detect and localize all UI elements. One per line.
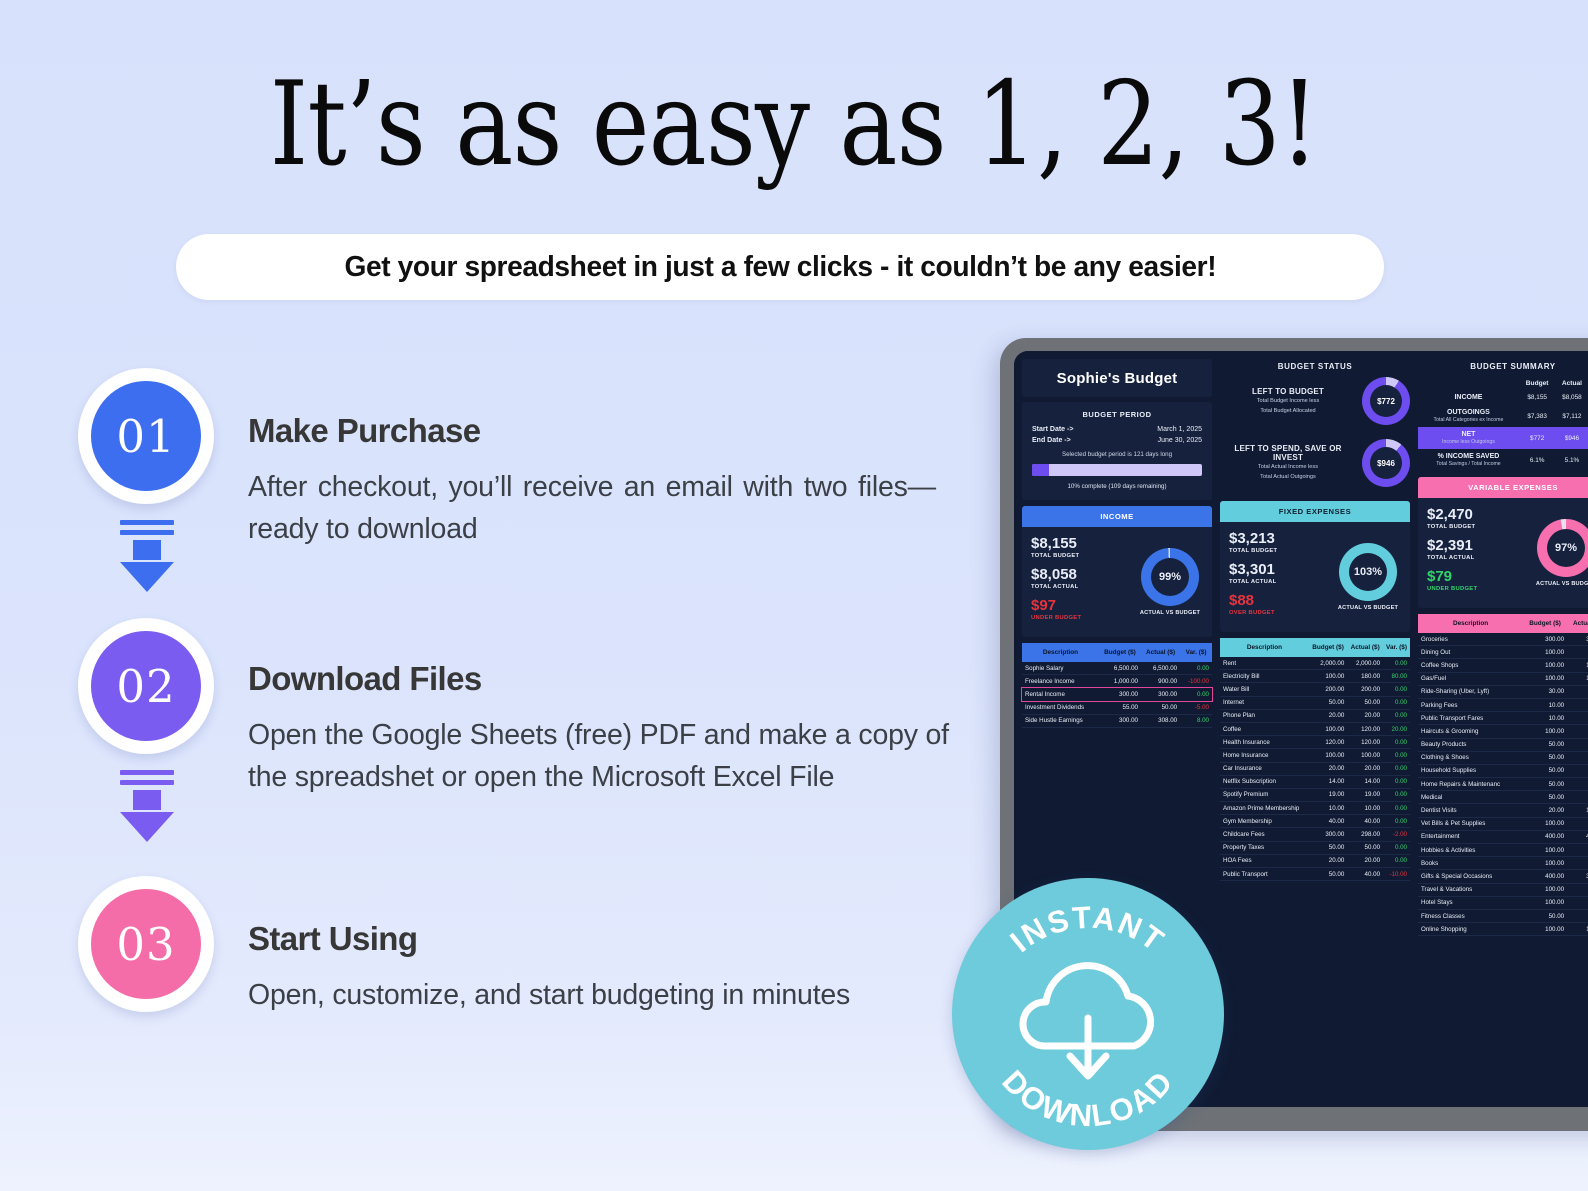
table-row[interactable]: HOA Fees20.0020.000.00 (1220, 854, 1410, 867)
fixed-total-budget-cap: TOTAL BUDGET (1229, 548, 1335, 554)
cell-budget: 20.00 (1309, 762, 1347, 775)
summary-label: INCOME (1418, 390, 1519, 405)
cell-description: Home Insurance (1220, 749, 1309, 762)
spreadsheet-column-income: Sophie's Budget BUDGET PERIOD Start Date… (1022, 359, 1212, 936)
fixed-col-actual: Actual ($) (1347, 638, 1383, 657)
cell-variance: 0.00 (1383, 683, 1410, 696)
left-to-spend-value: $946 (1370, 447, 1402, 479)
cell-description: Internet (1220, 696, 1309, 709)
variable-expenses-table: Description Budget ($) Actual ($) Grocer… (1418, 614, 1588, 936)
cell-budget: 10.00 (1523, 712, 1567, 725)
table-row[interactable]: Fitness Classes50.0050.00 (1418, 909, 1588, 922)
cell-actual: 356.00 (1567, 633, 1588, 646)
cloud-download-icon (1023, 966, 1151, 1076)
cell-description: Electricity Bill (1220, 670, 1309, 683)
cell-variance: 0.00 (1383, 775, 1410, 788)
spreadsheet-column-fixed: BUDGET STATUS LEFT TO BUDGET Total Budge… (1220, 359, 1410, 936)
start-date-label: Start Date -> (1032, 426, 1073, 433)
fixed-variance-cap: OVER BUDGET (1229, 610, 1335, 616)
table-row[interactable]: Medical50.0078.00 (1418, 791, 1588, 804)
cell-budget: 6,500.00 (1099, 662, 1141, 675)
cell-budget: 300.00 (1309, 828, 1347, 841)
step-2-title: Download Files (248, 660, 948, 698)
cell-actual: 180.00 (1347, 670, 1383, 683)
left-to-spend-sub2: Total Actual Outgoings (1220, 474, 1356, 482)
cell-actual: 50.00 (1567, 909, 1588, 922)
variable-total-budget: $2,470 (1427, 506, 1533, 523)
summary-budget: $772 (1519, 427, 1556, 449)
cell-description: Water Bill (1220, 683, 1309, 696)
cell-actual: 9.00 (1567, 698, 1588, 711)
left-to-budget-sub1: Total Budget Income less (1220, 398, 1356, 406)
cell-description: Travel & Vacations (1418, 883, 1523, 896)
variable-total-actual-cap: TOTAL ACTUAL (1427, 555, 1533, 561)
table-row[interactable]: Parking Fees10.009.00 (1418, 698, 1588, 711)
step-2-number: 02 (116, 660, 175, 713)
cell-budget: 50.00 (1523, 791, 1567, 804)
cell-actual: 14.00 (1347, 775, 1383, 788)
income-col-description: Description (1022, 643, 1099, 662)
cell-actual: 34.00 (1567, 685, 1588, 698)
cell-budget: 100.00 (1523, 857, 1567, 870)
spreadsheet-column-variable: BUDGET SUMMARY Budget Actual Var INCOME$… (1418, 359, 1588, 936)
cell-budget: 50.00 (1523, 738, 1567, 751)
table-row[interactable]: Rent2,000.002,000.000.00 (1220, 657, 1410, 670)
fixed-expenses-table: Description Budget ($) Actual ($) Var. (… (1220, 638, 1410, 881)
step-3-badge-wrap: 03 (78, 876, 214, 1012)
cell-budget: 55.00 (1099, 701, 1141, 714)
cell-budget: 100.00 (1523, 817, 1567, 830)
budget-period-panel: BUDGET PERIOD Start Date -> March 1, 202… (1022, 402, 1212, 500)
table-row[interactable]: Coffee100.00120.0020.00 (1220, 722, 1410, 735)
cell-actual: 20.00 (1347, 854, 1383, 867)
step-3-title: Start Using (248, 920, 948, 958)
cell-actual: 89.00 (1567, 738, 1588, 751)
variable-expenses-kpi-card: VARIABLE EXPENSES $2,470 TOTAL BUDGET $2… (1418, 477, 1588, 608)
cell-budget: 14.00 (1309, 775, 1347, 788)
income-table-header: Description Budget ($) Actual ($) Var. (… (1022, 643, 1212, 662)
cell-variance: -2.00 (1383, 828, 1410, 841)
cell-budget: 2,000.00 (1309, 657, 1347, 670)
cell-description: Online Shopping (1418, 923, 1523, 936)
left-to-spend-sub1: Total Actual Income less (1220, 464, 1356, 472)
cell-actual: 100.00 (1347, 749, 1383, 762)
cell-description: Gas/Fuel (1418, 672, 1523, 685)
income-total-actual: $8,058 (1031, 566, 1137, 583)
income-table-body: Sophie Salary6,500.006,500.000.00Freelan… (1022, 662, 1212, 727)
cell-budget: 200.00 (1309, 683, 1347, 696)
cell-variance: 0.00 (1383, 802, 1410, 815)
instant-download-badge: INSTANT DOWNLOAD (952, 878, 1224, 1150)
cell-budget: 50.00 (1309, 868, 1347, 881)
cell-budget: 50.00 (1523, 751, 1567, 764)
cell-budget: 100.00 (1523, 844, 1567, 857)
step-2-badge: 02 (78, 618, 214, 754)
budget-progress-bar (1032, 464, 1202, 476)
start-date-value: March 1, 2025 (1157, 426, 1202, 433)
cell-description: HOA Fees (1220, 854, 1309, 867)
fixed-total-budget: $3,213 (1229, 530, 1335, 547)
summary-row: % INCOME SAVEDTotal Savings / Total Inco… (1418, 449, 1588, 471)
income-kpi-card: INCOME $8,155 TOTAL BUDGET $8,058 TOTAL … (1022, 506, 1212, 637)
cell-actual: 60.00 (1567, 778, 1588, 791)
end-date-value: June 30, 2025 (1158, 437, 1202, 444)
income-variance: $97 (1031, 597, 1137, 614)
income-total-budget-cap: TOTAL BUDGET (1031, 553, 1137, 559)
income-col-actual: Actual ($) (1141, 643, 1180, 662)
cell-budget: 400.00 (1523, 870, 1567, 883)
cell-budget: 100.00 (1523, 646, 1567, 659)
cell-actual: 20.00 (1347, 709, 1383, 722)
table-row[interactable]: Side Hustle Earnings300.00308.008.00 (1022, 714, 1212, 727)
cell-description: Ride-Sharing (Uber, Lyft) (1418, 685, 1523, 698)
cell-description: Netflix Subscription (1220, 775, 1309, 788)
summary-label: NETIncome less Outgoings (1418, 427, 1519, 449)
cell-budget: 300.00 (1523, 633, 1567, 646)
cell-description: Dentist Visits (1418, 804, 1523, 817)
cell-budget: 100.00 (1309, 749, 1347, 762)
table-row[interactable]: Home Insurance100.00100.000.00 (1220, 749, 1410, 762)
cell-budget: 100.00 (1523, 725, 1567, 738)
cell-actual: 103.00 (1567, 659, 1588, 672)
table-row[interactable]: Household Supplies50.0035.00 (1418, 764, 1588, 777)
fixed-variance: $88 (1229, 592, 1335, 609)
fixed-donut-chart: 103% (1339, 543, 1397, 601)
left-to-spend-title: LEFT TO SPEND, SAVE OR INVEST (1220, 444, 1356, 462)
cell-variance: -10.00 (1383, 868, 1410, 881)
summary-row: NETIncome less Outgoings$772$946 (1418, 427, 1588, 449)
cell-budget: 19.00 (1309, 788, 1347, 801)
table-row[interactable]: Haircuts & Grooming100.0019.00 (1418, 725, 1588, 738)
cell-actual: 40.00 (1347, 815, 1383, 828)
step-1-badge: 01 (78, 368, 214, 504)
cell-description: Coffee (1220, 722, 1309, 735)
cell-description: Dining Out (1418, 646, 1523, 659)
table-row[interactable]: Dentist Visits20.00100.00 (1418, 804, 1588, 817)
income-total-budget: $8,155 (1031, 535, 1137, 552)
budget-period-end-row: End Date -> June 30, 2025 (1032, 437, 1202, 444)
income-donut-value: 99% (1151, 558, 1189, 596)
cell-description: Books (1418, 857, 1523, 870)
left-to-budget-value: $772 (1370, 385, 1402, 417)
cell-actual: 40.00 (1567, 751, 1588, 764)
cell-budget: 20.00 (1309, 854, 1347, 867)
budget-status-heading: BUDGET STATUS (1220, 362, 1410, 371)
summary-col-actual: Actual (1555, 377, 1588, 390)
table-row[interactable]: Health Insurance120.00120.000.00 (1220, 736, 1410, 749)
income-donut-cap: ACTUAL VS BUDGET (1140, 610, 1200, 616)
variable-variance: $79 (1427, 568, 1533, 585)
table-row[interactable]: Hobbies & Activities100.0098.00 (1418, 844, 1588, 857)
variable-donut-chart: 97% (1537, 519, 1588, 577)
summary-actual: 5.1% (1555, 449, 1588, 471)
cell-description: Investment Dividends (1022, 701, 1099, 714)
cell-actual: 90.00 (1567, 896, 1588, 909)
table-row[interactable]: Travel & Vacations100.0080.00 (1418, 883, 1588, 896)
cell-budget: 100.00 (1309, 722, 1347, 735)
summary-budget: $8,155 (1519, 390, 1556, 405)
table-row[interactable]: Ride-Sharing (Uber, Lyft)30.0034.00 (1418, 685, 1588, 698)
fixed-donut-cap: ACTUAL VS BUDGET (1338, 605, 1398, 611)
variable-total-actual: $2,391 (1427, 537, 1533, 554)
cell-variance: 0.00 (1383, 749, 1410, 762)
badge-svg: INSTANT DOWNLOAD (952, 878, 1224, 1150)
svg-text:INSTANT: INSTANT (1004, 900, 1172, 959)
cell-description: Fitness Classes (1418, 909, 1523, 922)
income-variance-cap: UNDER BUDGET (1031, 615, 1137, 621)
subtitle-text: Get your spreadsheet in just a few click… (344, 251, 1216, 284)
summary-label: OUTGOINGSTotal All Categories ex Income (1418, 405, 1519, 427)
cell-description: Car Insurance (1220, 762, 1309, 775)
cell-description: Hobbies & Activities (1418, 844, 1523, 857)
table-row[interactable]: Online Shopping100.00104.00 (1418, 923, 1588, 936)
cell-description: Phone Plan (1220, 709, 1309, 722)
left-to-budget-donut: $772 (1362, 377, 1410, 425)
summary-table-body: INCOME$8,155$8,058OUTGOINGSTotal All Cat… (1418, 390, 1588, 471)
cell-budget: 40.00 (1309, 815, 1347, 828)
table-row[interactable]: Internet50.0050.000.00 (1220, 696, 1410, 709)
step-2-arrow-icon (120, 770, 174, 842)
end-date-label: End Date -> (1032, 437, 1071, 444)
budget-summary-table: Budget Actual Var INCOME$8,155$8,058OUTG… (1418, 377, 1588, 471)
income-card-title: INCOME (1022, 506, 1212, 527)
cell-description: Spotify Premium (1220, 788, 1309, 801)
cell-actual: 120.00 (1347, 722, 1383, 735)
table-row[interactable]: Beauty Products50.0089.00 (1418, 738, 1588, 751)
summary-actual: $7,112 (1555, 405, 1588, 427)
cell-description: Vet Bills & Pet Supplies (1418, 817, 1523, 830)
income-table: Description Budget ($) Actual ($) Var. (… (1022, 643, 1212, 728)
step-1-number-circle: 01 (91, 381, 201, 491)
cell-actual: 78.00 (1567, 791, 1588, 804)
fixed-table-header: Description Budget ($) Actual ($) Var. (… (1220, 638, 1410, 657)
cell-description: Beauty Products (1418, 738, 1523, 751)
step-1-body: After checkout, you’ll receive an email … (248, 466, 936, 551)
cell-actual: 50.00 (1141, 701, 1180, 714)
table-row[interactable]: Home Repairs & Maintenanc50.0060.00 (1418, 778, 1588, 791)
table-row[interactable]: Gas/Fuel100.00102.00 (1418, 672, 1588, 685)
cell-description: Entertainment (1418, 830, 1523, 843)
table-row[interactable]: Public Transport Fares10.0014.00 (1418, 712, 1588, 725)
step-1-title: Make Purchase (248, 412, 948, 450)
page-title: It’s as easy as 1, 2, 3! (127, 62, 1461, 187)
fixed-expenses-kpi-card: FIXED EXPENSES $3,213 TOTAL BUDGET $3,30… (1220, 501, 1410, 632)
budget-summary-heading: BUDGET SUMMARY (1418, 362, 1588, 371)
cell-actual: 50.00 (1347, 696, 1383, 709)
step-1-text: Make Purchase After checkout, you’ll rec… (248, 412, 948, 551)
table-row[interactable]: Childcare Fees300.00298.00-2.00 (1220, 828, 1410, 841)
table-row[interactable]: Clothing & Shoes50.0040.00 (1418, 751, 1588, 764)
step-3-number: 03 (116, 918, 175, 971)
left-to-budget-sub2: Total Budget Allocated (1220, 408, 1356, 416)
cell-actual: 102.00 (1567, 672, 1588, 685)
cell-description: Freelance Income (1022, 675, 1099, 688)
table-row[interactable]: Phone Plan20.0020.000.00 (1220, 709, 1410, 722)
step-item-1: 01 Make Purchase After checkout, you’ll … (78, 368, 958, 618)
budget-progress-note: 10% complete (109 days remaining) (1032, 483, 1202, 490)
cell-budget: 300.00 (1099, 714, 1141, 727)
cell-actual: 298.00 (1347, 828, 1383, 841)
income-col-var: Var. ($) (1180, 643, 1212, 662)
cell-budget: 100.00 (1523, 923, 1567, 936)
summary-row: INCOME$8,155$8,058 (1418, 390, 1588, 405)
summary-actual: $8,058 (1555, 390, 1588, 405)
cell-actual: 35.00 (1567, 764, 1588, 777)
cell-description: Parking Fees (1418, 698, 1523, 711)
table-row[interactable]: Gifts & Special Occasions400.00304.00 (1418, 870, 1588, 883)
step-item-2: 02 Download Files Open the Google Sheets… (78, 618, 958, 876)
variable-total-budget-cap: TOTAL BUDGET (1427, 524, 1533, 530)
left-to-budget-title: LEFT TO BUDGET (1220, 387, 1356, 396)
cell-budget: 30.00 (1523, 685, 1567, 698)
cell-budget: 50.00 (1523, 778, 1567, 791)
cell-actual: 104.00 (1567, 923, 1588, 936)
income-col-budget: Budget ($) (1099, 643, 1141, 662)
cell-actual: 56.00 (1567, 857, 1588, 870)
table-row[interactable]: Books100.0056.00 (1418, 857, 1588, 870)
cell-actual: 6,500.00 (1141, 662, 1180, 675)
cell-budget: 1,000.00 (1099, 675, 1141, 688)
step-1-arrow-icon (120, 520, 174, 592)
variable-variance-cap: UNDER BUDGET (1427, 586, 1533, 592)
cell-budget: 100.00 (1523, 672, 1567, 685)
table-row[interactable]: Spotify Premium19.0019.000.00 (1220, 788, 1410, 801)
fixed-total-actual: $3,301 (1229, 561, 1335, 578)
cell-description: Gym Membership (1220, 815, 1309, 828)
cell-actual: 2,000.00 (1347, 657, 1383, 670)
badge-top-text: INSTANT (1004, 900, 1172, 959)
summary-header-row: Budget Actual Var (1418, 377, 1588, 390)
cell-actual: 10.00 (1347, 802, 1383, 815)
cell-variance: 0.00 (1383, 788, 1410, 801)
table-row[interactable]: Electricity Bill100.00180.0080.00 (1220, 670, 1410, 683)
steps-list: 01 Make Purchase After checkout, you’ll … (78, 368, 958, 1066)
step-3-body: Open, customize, and start budgeting in … (248, 974, 900, 1016)
cell-budget: 10.00 (1309, 802, 1347, 815)
cell-budget: 100.00 (1523, 896, 1567, 909)
cell-budget: 50.00 (1523, 909, 1567, 922)
table-row[interactable]: Vet Bills & Pet Supplies100.0030.00 (1418, 817, 1588, 830)
cell-description: Health Insurance (1220, 736, 1309, 749)
summary-col-blank (1418, 377, 1519, 390)
step-1-badge-wrap: 01 (78, 368, 214, 504)
cell-budget: 300.00 (1099, 688, 1141, 701)
variable-col-description: Description (1418, 614, 1523, 633)
cell-actual: 300.00 (1141, 688, 1180, 701)
budget-period-start-row: Start Date -> March 1, 2025 (1032, 426, 1202, 433)
summary-label: % INCOME SAVEDTotal Savings / Total Inco… (1418, 449, 1519, 471)
table-row[interactable]: Car Insurance20.0020.000.00 (1220, 762, 1410, 775)
table-row[interactable]: Gym Membership40.0040.000.00 (1220, 815, 1410, 828)
cell-variance: -5.00 (1180, 701, 1212, 714)
cell-budget: 50.00 (1309, 696, 1347, 709)
income-total-actual-cap: TOTAL ACTUAL (1031, 584, 1137, 590)
step-item-3: 03 Start Using Open, customize, and star… (78, 876, 958, 1066)
fixed-total-actual-cap: TOTAL ACTUAL (1229, 579, 1335, 585)
table-row[interactable]: Property Taxes50.0050.000.00 (1220, 841, 1410, 854)
summary-row: OUTGOINGSTotal All Categories ex Income$… (1418, 405, 1588, 427)
cell-budget: 400.00 (1523, 830, 1567, 843)
table-row[interactable]: Investment Dividends55.0050.00-5.00 (1022, 701, 1212, 714)
table-row[interactable]: Coffee Shops100.00103.00 (1418, 659, 1588, 672)
step-1-number: 01 (116, 410, 175, 463)
cell-actual: 30.00 (1567, 817, 1588, 830)
cell-description: Household Supplies (1418, 764, 1523, 777)
cell-budget: 100.00 (1309, 670, 1347, 683)
table-row[interactable]: Freelance Income1,000.00900.00-100.00 (1022, 675, 1212, 688)
cell-description: Gifts & Special Occasions (1418, 870, 1523, 883)
table-row[interactable]: Hotel Stays100.0090.00 (1418, 896, 1588, 909)
step-3-text: Start Using Open, customize, and start b… (248, 920, 948, 1016)
step-3-badge: 03 (78, 876, 214, 1012)
table-row[interactable]: Sophie Salary6,500.006,500.000.00 (1022, 662, 1212, 675)
table-row[interactable]: Amazon Prime Membership10.0010.000.00 (1220, 802, 1410, 815)
cell-variance: 0.00 (1383, 841, 1410, 854)
cell-description: Rent (1220, 657, 1309, 670)
table-row[interactable]: Rental Income300.00300.000.00 (1022, 688, 1212, 701)
cell-description: Groceries (1418, 633, 1523, 646)
summary-budget: 6.1% (1519, 449, 1556, 471)
cell-actual: 50.00 (1347, 841, 1383, 854)
cell-variance: 20.00 (1383, 722, 1410, 735)
cell-description: Amazon Prime Membership (1220, 802, 1309, 815)
cell-description: Clothing & Shoes (1418, 751, 1523, 764)
cell-variance: 0.00 (1383, 736, 1410, 749)
cell-actual: 20.00 (1347, 762, 1383, 775)
cell-description: Property Taxes (1220, 841, 1309, 854)
variable-table-body: Groceries300.00356.00Dining Out100.0084.… (1418, 633, 1588, 936)
cell-actual: 40.00 (1347, 868, 1383, 881)
cell-description: Haircuts & Grooming (1418, 725, 1523, 738)
cell-actual: 308.00 (1141, 714, 1180, 727)
fixed-col-var: Var. ($) (1383, 638, 1410, 657)
cell-actual: 14.00 (1567, 712, 1588, 725)
cell-budget: 50.00 (1523, 764, 1567, 777)
budget-period-length: Selected budget period is 121 days long (1032, 451, 1202, 458)
status-left-to-spend: LEFT TO SPEND, SAVE OR INVEST Total Actu… (1220, 439, 1410, 487)
subtitle-banner: Get your spreadsheet in just a few click… (176, 234, 1384, 300)
income-donut-chart: 99% (1141, 548, 1199, 606)
cell-actual: 456.00 (1567, 830, 1588, 843)
cell-actual: 84.00 (1567, 646, 1588, 659)
cell-actual: 304.00 (1567, 870, 1588, 883)
cell-actual: 900.00 (1141, 675, 1180, 688)
fixed-card-title: FIXED EXPENSES (1220, 501, 1410, 522)
table-row[interactable]: Water Bill200.00200.000.00 (1220, 683, 1410, 696)
variable-table-header: Description Budget ($) Actual ($) (1418, 614, 1588, 633)
table-row[interactable]: Dining Out100.0084.00 (1418, 646, 1588, 659)
table-row[interactable]: Netflix Subscription14.0014.000.00 (1220, 775, 1410, 788)
cell-description: Childcare Fees (1220, 828, 1309, 841)
summary-actual: $946 (1555, 427, 1588, 449)
step-3-number-circle: 03 (91, 889, 201, 999)
table-row[interactable]: Groceries300.00356.00 (1418, 633, 1588, 646)
cell-description: Side Hustle Earnings (1022, 714, 1099, 727)
cell-budget: 100.00 (1523, 659, 1567, 672)
left-to-spend-donut: $946 (1362, 439, 1410, 487)
table-row[interactable]: Public Transport50.0040.00-10.00 (1220, 868, 1410, 881)
variable-card-title: VARIABLE EXPENSES (1418, 477, 1588, 498)
cell-variance: -100.00 (1180, 675, 1212, 688)
cell-budget: 120.00 (1309, 736, 1347, 749)
cell-description: Home Repairs & Maintenanc (1418, 778, 1523, 791)
cell-budget: 20.00 (1523, 804, 1567, 817)
status-left-to-budget: LEFT TO BUDGET Total Budget Income less … (1220, 377, 1410, 425)
cell-actual: 120.00 (1347, 736, 1383, 749)
table-row[interactable]: Entertainment400.00456.00 (1418, 830, 1588, 843)
cell-description: Coffee Shops (1418, 659, 1523, 672)
cell-variance: 0.00 (1180, 662, 1212, 675)
